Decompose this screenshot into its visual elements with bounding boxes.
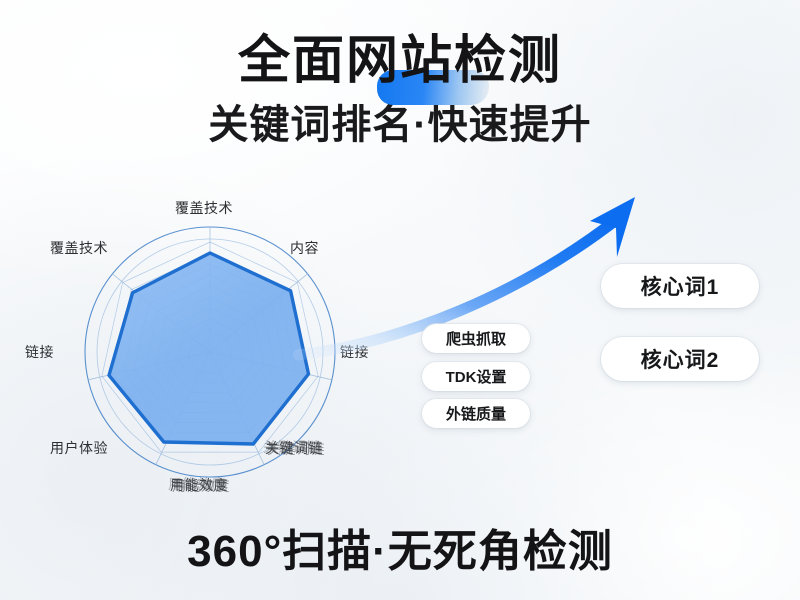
- tag-pill-crawl-label: 爬虫抓取: [446, 328, 506, 349]
- headline-block: 全面网站检测 关键词排名·快速提升: [0, 30, 800, 150]
- radar-label-right: 链接: [340, 342, 369, 362]
- main-title-line: 全面网站检测: [238, 30, 562, 92]
- radar-label-upper-left: 覆盖技术: [50, 238, 108, 258]
- radar-chart: 覆盖技术 覆盖技术 链接 用户体验 用能效度 关键词链 内容 链接: [20, 190, 420, 510]
- page-title: 全面网站检测: [238, 32, 562, 90]
- footer-tagline: 360°扫描·无死角检测: [0, 525, 800, 579]
- tag-pill-tdk-label: TDK设置: [446, 366, 507, 387]
- radar-label-bottom: 用能效度: [170, 475, 228, 495]
- radar-label-top: 覆盖技术: [175, 198, 233, 218]
- radar-label-left: 链接: [25, 342, 54, 362]
- keyword-pill-1[interactable]: 核心词1: [601, 264, 759, 308]
- radar-label-lower-right: 关键词链: [265, 438, 323, 458]
- arrow-head: [590, 197, 635, 257]
- tag-pill-backlink[interactable]: 外链质量: [422, 399, 530, 428]
- keyword-pill-2[interactable]: 核心词2: [601, 337, 759, 381]
- tag-pill-backlink-label: 外链质量: [446, 403, 506, 424]
- tag-pill-crawl[interactable]: 爬虫抓取: [422, 324, 530, 353]
- poster-canvas: 全面网站检测 关键词排名·快速提升: [0, 0, 800, 600]
- tag-pill-tdk[interactable]: TDK设置: [422, 362, 530, 391]
- keyword-pill-2-label: 核心词2: [641, 344, 720, 374]
- keyword-pill-1-label: 核心词1: [641, 271, 720, 301]
- radar-data-area: [109, 253, 309, 444]
- radar-label-lower-left: 用户体验: [50, 438, 108, 458]
- page-subtitle: 关键词排名·快速提升: [0, 100, 800, 150]
- radar-label-upper-right: 内容: [290, 238, 319, 258]
